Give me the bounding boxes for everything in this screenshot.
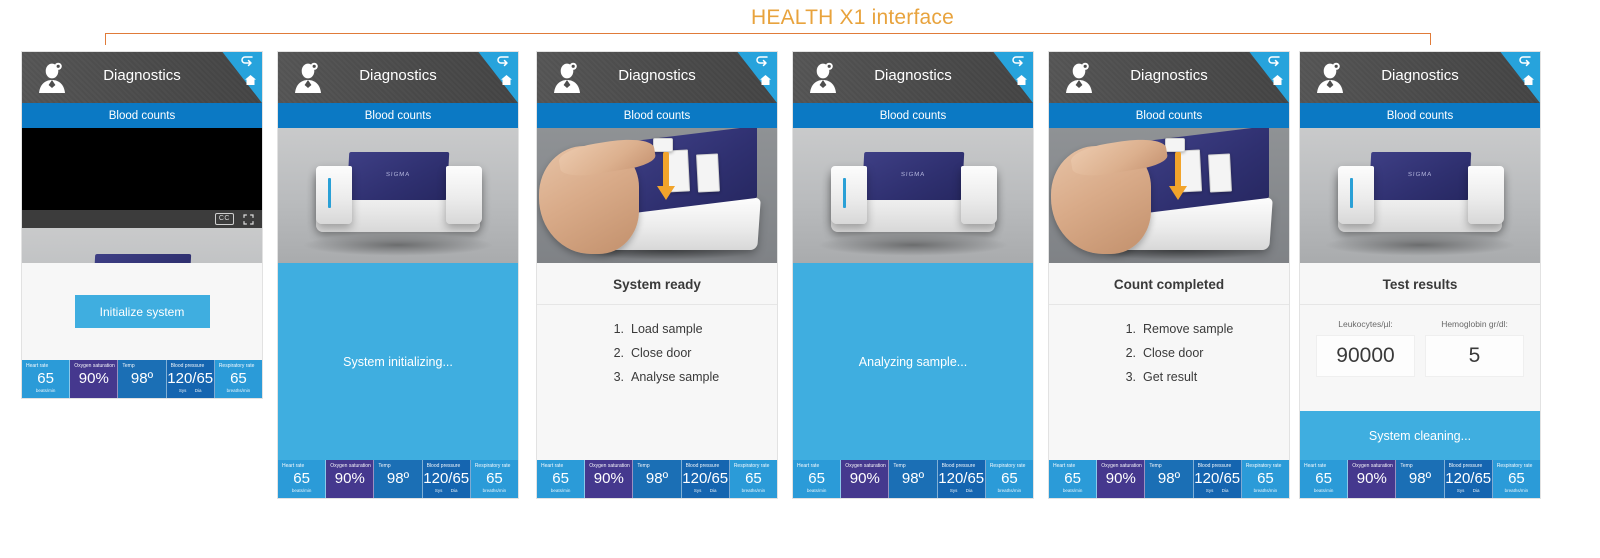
vital-oxygen-saturation: Oxygen saturation 90% (841, 460, 889, 498)
panel-2-header: Diagnostics (278, 52, 518, 103)
sample-slot-right (696, 153, 720, 192)
test-results-row: Leukocytes/µl: 90000 Hemoglobin gr/dl: 5 (1300, 305, 1540, 377)
vital-sub-dia: Dia (966, 488, 973, 493)
vital-heart-rate: Heart rate 65 beats/min (1300, 460, 1348, 498)
step-label: Remove sample (1143, 321, 1233, 337)
vital-value: 65 (1300, 470, 1347, 488)
vital-value: 90% (70, 370, 117, 388)
vital-label: Respiratory rate (986, 463, 1033, 469)
panel-6-subtitle: Blood counts (1300, 103, 1540, 128)
vital-sub: breaths/min (471, 488, 518, 493)
vital-sub-dia: Dia (1222, 488, 1229, 493)
list-item: 2.Close door (1049, 343, 1289, 367)
step-number: 2. (611, 345, 624, 361)
vital-label: Oxygen saturation (1097, 463, 1144, 469)
panel-5-steps: 1.Remove sample 2.Close door 3.Get resul… (1049, 305, 1289, 391)
vital-value: 65 (537, 470, 584, 488)
step-label: Analyse sample (631, 369, 719, 385)
vital-blood-pressure: Blood pressure 120/65 Sys Dia (1194, 460, 1242, 498)
device-accent-stripe (328, 178, 331, 208)
device-right-wing (961, 166, 997, 224)
panel-4-header: Diagnostics (793, 52, 1033, 103)
list-item: 1.Remove sample (1049, 319, 1289, 343)
vital-value: 65 (1242, 470, 1289, 488)
vital-value: 120/65 (167, 370, 214, 388)
panel-3-header: Diagnostics (537, 52, 777, 103)
panel-2-media: SIGMA (278, 128, 518, 263)
vital-blood-pressure: Blood pressure 120/65 Sys Dia (682, 460, 730, 498)
vital-value: 120/65 (682, 470, 729, 488)
step-number: 2. (1123, 345, 1136, 361)
cc-icon[interactable]: CC (215, 213, 234, 225)
back-arrow-icon[interactable] (756, 56, 770, 67)
vital-sub: beats/min (537, 488, 584, 493)
vital-value: 65 (730, 470, 777, 488)
panel-6-title: Diagnostics (1300, 67, 1540, 84)
vital-value: 98º (1145, 470, 1192, 488)
vital-label: Respiratory rate (471, 463, 518, 469)
panel-1-subtitle: Blood counts (22, 103, 262, 128)
vital-sub-sys: Sys (1457, 488, 1465, 493)
vital-blood-pressure: Blood pressure 120/65 Sys Dia (167, 360, 215, 398)
vital-temp: Temp 98º (889, 460, 937, 498)
vital-label: Oxygen saturation (326, 463, 373, 469)
vital-oxygen-saturation: Oxygen saturation 90% (70, 360, 118, 398)
vital-value: 98º (118, 370, 165, 388)
panel-6-media: SIGMA (1300, 128, 1540, 263)
panel-5-media (1049, 128, 1289, 263)
list-item: 3.Analyse sample (537, 367, 777, 391)
vital-heart-rate: Heart rate 65 beats/min (22, 360, 70, 398)
vital-temp: Temp 98º (633, 460, 681, 498)
back-arrow-icon[interactable] (1519, 56, 1533, 67)
vital-value: 90% (841, 470, 888, 488)
panel-2-status: System initializing... (278, 263, 518, 460)
vital-temp: Temp 98º (1396, 460, 1444, 498)
title-bar: HEALTH X1 interface (0, 0, 1600, 46)
device-left-wing (831, 166, 867, 224)
vital-label: Temp (633, 463, 680, 469)
device-accent-stripe (843, 178, 846, 208)
panel-4-title: Diagnostics (793, 67, 1033, 84)
insert-arrow-icon (653, 152, 683, 204)
panel-3-steps: 1.Load sample 2.Close door 3.Analyse sam… (537, 305, 777, 391)
vital-label: Blood pressure (682, 463, 729, 469)
sample-cartridge (653, 138, 673, 152)
sample-slot-right (1208, 153, 1232, 192)
panel-2-title: Diagnostics (278, 67, 518, 84)
panel-5-header: Diagnostics (1049, 52, 1289, 103)
step-label: Close door (631, 345, 691, 361)
device-photo: SIGMA (793, 128, 1033, 263)
vital-label: Oxygen saturation (585, 463, 632, 469)
vital-sub: beats/min (278, 488, 325, 493)
vital-sub: Sys Dia (1194, 488, 1241, 493)
fullscreen-icon[interactable] (243, 214, 254, 225)
panel-6: Diagnostics Blood counts SIGMA (1300, 52, 1540, 498)
vital-sub: breaths/min (986, 488, 1033, 493)
vital-value: 98º (1396, 470, 1443, 488)
vital-value: 90% (1097, 470, 1144, 488)
panel-6-status: System cleaning... (1300, 411, 1540, 460)
result-label: Leukocytes/µl: (1316, 319, 1415, 329)
vital-label: Heart rate (22, 363, 69, 369)
vital-value: 90% (326, 470, 373, 488)
vital-label: Respiratory rate (215, 363, 262, 369)
vital-value: 90% (585, 470, 632, 488)
vital-label: Oxygen saturation (70, 363, 117, 369)
device-photo: SIGMA (278, 128, 518, 263)
vital-sub-dia: Dia (195, 388, 202, 393)
vital-label: Blood pressure (938, 463, 985, 469)
device-display: SIGMA (347, 152, 450, 200)
device-left-wing (316, 166, 352, 224)
device-display: SIGMA (93, 254, 191, 263)
scope-bracket (105, 33, 1431, 45)
device-logo: SIGMA (348, 172, 448, 178)
device-loading-photo (1049, 128, 1289, 263)
vital-oxygen-saturation: Oxygen saturation 90% (1348, 460, 1396, 498)
panel-1-vitals: Heart rate 65 beats/min Oxygen saturatio… (22, 360, 262, 398)
panel-3-media (537, 128, 777, 263)
vital-label: Blood pressure (423, 463, 470, 469)
device-photo: SIGMA (1300, 128, 1540, 263)
video-player[interactable]: CC (22, 128, 262, 228)
result-value: 90000 (1316, 335, 1415, 377)
panel-5-body: Count completed 1.Remove sample 2.Close … (1049, 263, 1289, 460)
step-label: Load sample (631, 321, 703, 337)
vital-sub: beats/min (1300, 488, 1347, 493)
vital-oxygen-saturation: Oxygen saturation 90% (1097, 460, 1145, 498)
vital-heart-rate: Heart rate 65 beats/min (278, 460, 326, 498)
result-leukocytes: Leukocytes/µl: 90000 (1316, 319, 1415, 377)
vital-label: Temp (118, 363, 165, 369)
vital-sub: breaths/min (1493, 488, 1540, 493)
vital-temp: Temp 98º (1145, 460, 1193, 498)
vital-sub: beats/min (22, 388, 69, 393)
vital-sub: Sys Dia (1445, 488, 1492, 493)
panel-4-media: SIGMA (793, 128, 1033, 263)
device-display: SIGMA (1369, 152, 1472, 200)
panel-5-subtitle: Blood counts (1049, 103, 1289, 128)
vital-label: Heart rate (1049, 463, 1096, 469)
vital-sub-sys: Sys (694, 488, 702, 493)
device-loading-photo (537, 128, 777, 263)
vital-value: 120/65 (423, 470, 470, 488)
device-shadow (817, 234, 1009, 256)
vital-sub: Sys Dia (167, 388, 214, 393)
vital-respiratory-rate: Respiratory rate 65 breaths/min (1242, 460, 1289, 498)
panel-3-vitals: Heart rate 65 beats/min Oxygen saturatio… (537, 460, 777, 498)
vital-sub-dia: Dia (710, 488, 717, 493)
vital-oxygen-saturation: Oxygen saturation 90% (326, 460, 374, 498)
vital-label: Blood pressure (1445, 463, 1492, 469)
step-number: 1. (611, 321, 624, 337)
panel-strip: Diagnostics Blood counts CC (0, 52, 1600, 558)
vital-value: 65 (986, 470, 1033, 488)
vital-value: 120/65 (1194, 470, 1241, 488)
vital-sub-sys: Sys (1206, 488, 1214, 493)
vital-blood-pressure: Blood pressure 120/65 Sys Dia (1445, 460, 1493, 498)
panel-3-body: System ready 1.Load sample 2.Close door … (537, 263, 777, 460)
panel-1-media: CC SIGMA (22, 128, 262, 263)
vital-sub: Sys Dia (682, 488, 729, 493)
vital-heart-rate: Heart rate 65 beats/min (1049, 460, 1097, 498)
device-shadow (302, 234, 494, 256)
vital-label: Oxygen saturation (1348, 463, 1395, 469)
vital-sub: Sys Dia (938, 488, 985, 493)
vital-sub: breaths/min (730, 488, 777, 493)
vital-respiratory-rate: Respiratory rate 65 breaths/min (730, 460, 777, 498)
panel-4: Diagnostics Blood counts SIGMA (793, 52, 1033, 498)
result-label: Hemoglobin gr/dl: (1425, 319, 1524, 329)
vital-sub-sys: Sys (179, 388, 187, 393)
panel-5-title: Diagnostics (1049, 67, 1289, 84)
page-title: HEALTH X1 interface (751, 6, 954, 30)
remove-arrow-icon (1165, 152, 1195, 204)
vital-value: 65 (471, 470, 518, 488)
vital-value: 65 (22, 370, 69, 388)
panel-6-body: Test results Leukocytes/µl: 90000 Hemogl… (1300, 263, 1540, 411)
panel-5-vitals: Heart rate 65 beats/min Oxygen saturatio… (1049, 460, 1289, 498)
device-logo: SIGMA (863, 172, 963, 178)
list-item: 1.Load sample (537, 319, 777, 343)
vital-temp: Temp 98º (374, 460, 422, 498)
result-hemoglobin: Hemoglobin gr/dl: 5 (1425, 319, 1524, 377)
vital-respiratory-rate: Respiratory rate 65 breaths/min (1493, 460, 1540, 498)
panel-1-body: Initialize system (22, 263, 262, 360)
vital-respiratory-rate: Respiratory rate 65 breaths/min (215, 360, 262, 398)
vital-value: 98º (633, 470, 680, 488)
panel-1-header: Diagnostics (22, 52, 262, 103)
panel-2-vitals: Heart rate 65 beats/min Oxygen saturatio… (278, 460, 518, 498)
vital-sub-dia: Dia (1473, 488, 1480, 493)
panel-6-section-title: Test results (1300, 263, 1540, 305)
vital-value: 120/65 (1445, 470, 1492, 488)
vital-value: 98º (374, 470, 421, 488)
list-item: 2.Close door (537, 343, 777, 367)
panel-5-section-title: Count completed (1049, 263, 1289, 305)
vital-blood-pressure: Blood pressure 120/65 Sys Dia (938, 460, 986, 498)
vital-label: Respiratory rate (730, 463, 777, 469)
panel-1-title: Diagnostics (22, 67, 262, 84)
vital-label: Blood pressure (167, 363, 214, 369)
step-number: 3. (611, 369, 624, 385)
panel-1: Diagnostics Blood counts CC (22, 52, 262, 398)
vital-sub-sys: Sys (435, 488, 443, 493)
vital-sub: breaths/min (215, 388, 262, 393)
panel-6-vitals: Heart rate 65 beats/min Oxygen saturatio… (1300, 460, 1540, 498)
device-display: SIGMA (862, 152, 965, 200)
panel-4-subtitle: Blood counts (793, 103, 1033, 128)
vital-value: 90% (1348, 470, 1395, 488)
panel-2: Diagnostics Blood counts SIGMA (278, 52, 518, 498)
back-arrow-icon[interactable] (497, 56, 511, 67)
step-number: 1. (1123, 321, 1136, 337)
vital-label: Respiratory rate (1242, 463, 1289, 469)
panel-5: Diagnostics Blood counts (1049, 52, 1289, 498)
vital-value: 65 (215, 370, 262, 388)
panel-3: Diagnostics Blood counts (537, 52, 777, 498)
back-arrow-icon[interactable] (1012, 56, 1026, 67)
device-accent-stripe (1350, 178, 1353, 208)
vital-label: Heart rate (1300, 463, 1347, 469)
panel-2-subtitle: Blood counts (278, 103, 518, 128)
step-label: Close door (1143, 345, 1203, 361)
step-number: 3. (1123, 369, 1136, 385)
vital-sub: breaths/min (1242, 488, 1289, 493)
vital-value: 65 (278, 470, 325, 488)
panel-3-subtitle: Blood counts (537, 103, 777, 128)
panel-3-section-title: System ready (537, 263, 777, 305)
device-right-wing (446, 166, 482, 224)
vital-label: Temp (889, 463, 936, 469)
vital-label: Temp (374, 463, 421, 469)
vital-respiratory-rate: Respiratory rate 65 breaths/min (471, 460, 518, 498)
device-photo: SIGMA (22, 228, 262, 263)
vital-label: Temp (1396, 463, 1443, 469)
vital-temp: Temp 98º (118, 360, 166, 398)
vital-value: 65 (1493, 470, 1540, 488)
result-value: 5 (1425, 335, 1524, 377)
device-left-wing (1338, 166, 1374, 224)
device-right-wing (1468, 166, 1504, 224)
step-label: Get result (1143, 369, 1197, 385)
panel-3-title: Diagnostics (537, 67, 777, 84)
video-control-bar[interactable]: CC (22, 210, 262, 228)
vital-label: Temp (1145, 463, 1192, 469)
back-arrow-icon[interactable] (241, 56, 255, 67)
device-shadow (1324, 234, 1516, 256)
vital-value: 65 (793, 470, 840, 488)
vital-label: Heart rate (793, 463, 840, 469)
device-logo: SIGMA (1370, 172, 1470, 178)
vital-heart-rate: Heart rate 65 beats/min (793, 460, 841, 498)
vital-label: Heart rate (278, 463, 325, 469)
back-arrow-icon[interactable] (1268, 56, 1282, 67)
vital-oxygen-saturation: Oxygen saturation 90% (585, 460, 633, 498)
sample-cartridge (1165, 138, 1185, 152)
vital-heart-rate: Heart rate 65 beats/min (537, 460, 585, 498)
panel-4-vitals: Heart rate 65 beats/min Oxygen saturatio… (793, 460, 1033, 498)
vital-label: Blood pressure (1194, 463, 1241, 469)
vital-label: Heart rate (537, 463, 584, 469)
vital-sub: beats/min (793, 488, 840, 493)
vital-value: 98º (889, 470, 936, 488)
panel-4-status: Analyzing sample... (793, 263, 1033, 460)
vital-value: 120/65 (938, 470, 985, 488)
vital-sub-sys: Sys (950, 488, 958, 493)
vital-respiratory-rate: Respiratory rate 65 breaths/min (986, 460, 1033, 498)
vital-label: Oxygen saturation (841, 463, 888, 469)
vital-sub: Sys Dia (423, 488, 470, 493)
vital-sub-dia: Dia (451, 488, 458, 493)
panel-6-header: Diagnostics (1300, 52, 1540, 103)
vital-sub: beats/min (1049, 488, 1096, 493)
list-item: 3.Get result (1049, 367, 1289, 391)
vital-label: Respiratory rate (1493, 463, 1540, 469)
vital-blood-pressure: Blood pressure 120/65 Sys Dia (423, 460, 471, 498)
vital-value: 65 (1049, 470, 1096, 488)
initialize-system-button[interactable]: Initialize system (75, 295, 210, 328)
